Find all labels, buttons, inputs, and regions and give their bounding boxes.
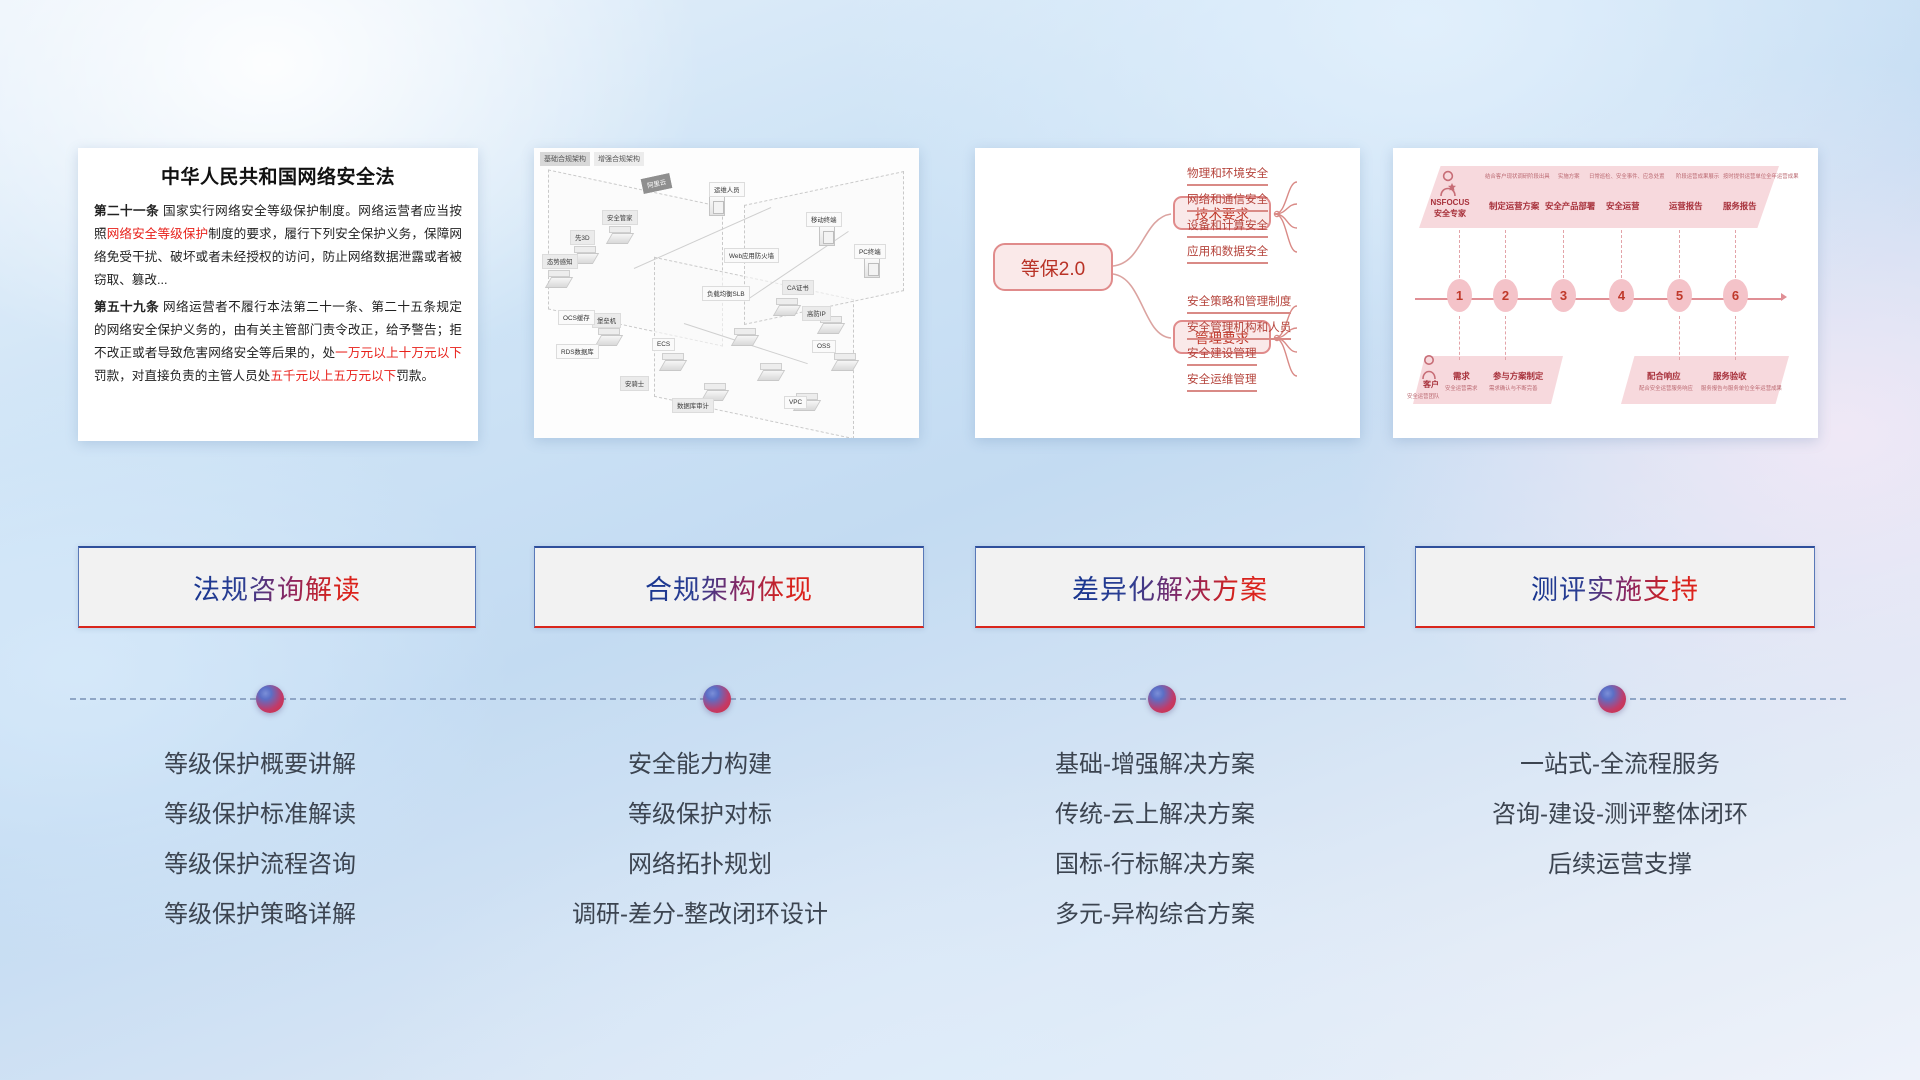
node-cube-icon xyxy=(776,298,798,316)
arch-node-slb: 负载均衡SLB xyxy=(702,286,750,301)
timeline-tick xyxy=(1621,230,1622,278)
timeline-marker-3[interactable] xyxy=(1148,685,1176,713)
mindmap-root-node: 等保2.0 xyxy=(993,243,1113,291)
timeline-step-dot-6: 6 xyxy=(1723,279,1748,312)
bullet-column-3: 基础-增强解决方案 传统-云上解决方案 国标-行标解决方案 多元-异构综合方案 xyxy=(955,740,1355,940)
list-item: 咨询-建设-测评整体闭环 xyxy=(1400,790,1840,840)
expert-person-icon xyxy=(1437,170,1459,198)
timeline-tick xyxy=(1505,316,1506,360)
server-icon xyxy=(864,258,880,278)
law-article-21: 第二十一条 国家实行网络安全等级保护制度。网络运营者应当按照网络安全等级保护制度… xyxy=(94,200,462,292)
list-item: 传统-云上解决方案 xyxy=(955,790,1355,840)
list-item: 等级保护对标 xyxy=(500,790,900,840)
timeline-tick xyxy=(1679,316,1680,360)
timeline-marker-1[interactable] xyxy=(256,685,284,713)
timeline-tick xyxy=(1459,316,1460,360)
list-item: 国标-行标解决方案 xyxy=(955,840,1355,890)
arch-node-ecs: ECS xyxy=(652,338,675,351)
arch-node-db-audit: 数据库审计 xyxy=(672,398,714,413)
mindmap-leaf-app-data: 应用和数据安全 xyxy=(1187,244,1268,264)
bullet-column-1: 等级保护概要讲解 等级保护标准解读 等级保护流程咨询 等级保护策略详解 xyxy=(60,740,460,940)
bottom-right-title-2: 服务验收 xyxy=(1713,370,1747,382)
mindmap-leaf-org-personnel: 安全管理机构和人员 xyxy=(1187,320,1291,340)
expert-label-line2: 安全专家 xyxy=(1425,209,1475,219)
step-2-title: 安全产品部署 xyxy=(1545,200,1595,212)
mindmap-leaf-device-compute: 设备和计算安全 xyxy=(1187,218,1268,238)
node-cube-icon xyxy=(760,363,782,381)
list-item: 等级保护概要讲解 xyxy=(60,740,460,790)
mindmap-leaf-physical-env: 物理和环境安全 xyxy=(1187,166,1268,186)
bottom-right-sub-1: 配合安全运营服务响应 xyxy=(1639,384,1693,392)
section-label-box-2[interactable]: 合规架构体现 xyxy=(534,546,924,628)
step-2-sub: 实施方案 xyxy=(1558,172,1580,180)
timeline-marker-2[interactable] xyxy=(703,685,731,713)
mindmap-leaf-policy-system: 安全策略和管理制度 xyxy=(1187,294,1291,314)
slide-root: 中华人民共和国网络安全法 第二十一条 国家实行网络安全等级保护制度。网络运营者应… xyxy=(0,0,1920,1080)
list-item: 调研-差分-整改闭环设计 xyxy=(500,890,900,940)
bottom-left-sub-1: 安全运营需求 xyxy=(1445,384,1477,392)
timeline-arrow-icon xyxy=(1781,293,1787,301)
bullet-column-2: 安全能力构建 等级保护对标 网络拓扑规划 调研-差分-整改闭环设计 xyxy=(500,740,900,940)
step-3-sub: 日常巡检、安全事件、应急处置 xyxy=(1589,172,1664,180)
timeline-marker-4[interactable] xyxy=(1598,685,1626,713)
step-3-title: 安全运营 xyxy=(1606,200,1640,212)
timeline-tick xyxy=(1563,230,1564,278)
list-item: 后续运营支撑 xyxy=(1400,840,1840,890)
progress-timeline-line xyxy=(70,698,1846,700)
section-label-text-1: 法规咨询解读 xyxy=(193,568,361,607)
server-icon xyxy=(819,226,835,246)
section-label-text-4: 测评实施支持 xyxy=(1531,568,1699,607)
law-text-body: 中华人民共和国网络安全法 第二十一条 国家实行网络安全等级保护制度。网络运营者应… xyxy=(78,148,478,398)
service-timeline-diagram: NSFOCUS 安全专家 结合客户现状调研阶段出具 制定运营方案 实施方案 安全… xyxy=(1393,148,1818,438)
mindmap-diagram: 等保2.0 技术要求 物理和环境安全 网络和通信安全 设备和计算安全 应用和数据… xyxy=(975,148,1360,438)
node-cube-icon xyxy=(598,328,620,346)
timeline-tick xyxy=(1735,230,1736,278)
bottom-left-title-1: 需求 xyxy=(1453,370,1470,382)
section-label-box-4[interactable]: 测评实施支持 xyxy=(1415,546,1815,628)
step-5-sub: 按时提供运营单位全年运营成果 xyxy=(1723,172,1798,180)
card-cybersecurity-law: 中华人民共和国网络安全法 第二十一条 国家实行网络安全等级保护制度。网络运营者应… xyxy=(78,148,478,441)
expert-label-line1: NSFOCUS xyxy=(1425,198,1475,208)
section-label-box-1[interactable]: 法规咨询解读 xyxy=(78,546,476,628)
customer-label-line2: 安全运营团队 xyxy=(1407,392,1439,400)
arch-node-oss: OSS xyxy=(812,340,836,353)
illustration-cards-row: 中华人民共和国网络安全法 第二十一条 国家实行网络安全等级保护制度。网络运营者应… xyxy=(0,148,1920,448)
timeline-tick xyxy=(1505,230,1506,278)
arch-node-security-agent: 安骑士 xyxy=(620,376,649,391)
bullet-columns-row: 等级保护概要讲解 等级保护标准解读 等级保护流程咨询 等级保护策略详解 安全能力… xyxy=(0,740,1920,1000)
bottom-right-title-1: 配合响应 xyxy=(1647,370,1681,382)
article-59-highlight-2: 五千元以上五万元以下 xyxy=(270,369,396,383)
article-59-part2: 罚款，对直接负责的主管人员处 xyxy=(94,369,270,383)
step-1-sub: 结合客户现状调研阶段出具 xyxy=(1485,172,1550,180)
list-item: 一站式-全流程服务 xyxy=(1400,740,1840,790)
tab-basic-architecture[interactable]: 基础合规架构 xyxy=(540,152,590,166)
list-item: 多元-异构综合方案 xyxy=(955,890,1355,940)
section-label-text-3: 差异化解决方案 xyxy=(1072,568,1268,607)
list-item: 等级保护策略详解 xyxy=(60,890,460,940)
arch-node-ops-staff: 运维人员 xyxy=(709,182,745,197)
bottom-left-sub-2: 需求确认与不断完善 xyxy=(1489,384,1538,392)
tab-enhanced-architecture[interactable]: 增强合规架构 xyxy=(594,152,644,166)
architecture-diagram: 基础合规架构 增强合规架构 xyxy=(534,148,919,438)
section-label-box-3[interactable]: 差异化解决方案 xyxy=(975,546,1365,628)
timeline-step-dot-1: 1 xyxy=(1447,279,1472,312)
timeline-step-dot-5: 5 xyxy=(1667,279,1692,312)
arch-node-vpc: VPC xyxy=(784,396,807,409)
server-icon xyxy=(709,196,725,216)
arch-node-bastion-host: 堡垒机 xyxy=(592,313,621,328)
arch-node-rds: RDS数据库 xyxy=(556,344,599,359)
arch-node-pc-terminal: PC终端 xyxy=(854,244,886,259)
step-4-sub: 阶段运营成果展示 xyxy=(1676,172,1719,180)
card-cloud-architecture: 基础合规架构 增强合规架构 xyxy=(534,148,919,438)
step-5-title: 服务报告 xyxy=(1723,200,1757,212)
node-cube-icon xyxy=(548,270,570,288)
arch-node-anti-ddos-ip: 高防IP xyxy=(802,306,831,321)
law-title: 中华人民共和国网络安全法 xyxy=(94,162,462,189)
article-59-label: 第五十九条 xyxy=(94,300,159,314)
arch-node-security-butler: 安全管家 xyxy=(602,210,638,225)
timeline-step-dot-2: 2 xyxy=(1493,279,1518,312)
law-article-59: 第五十九条 网络运营者不履行本法第二十一条、第二十五条规定的网络安全保护义务的，… xyxy=(94,296,462,388)
article-59-part3: 罚款。 xyxy=(396,369,434,383)
node-cube-icon xyxy=(609,226,631,244)
list-item: 安全能力构建 xyxy=(500,740,900,790)
section-label-row: 法规咨询解读 合规架构体现 差异化解决方案 测评实施支持 xyxy=(0,546,1920,628)
node-cube-icon xyxy=(734,328,756,346)
node-cube-icon xyxy=(662,353,684,371)
section-label-text-2: 合规架构体现 xyxy=(645,568,813,607)
arch-node-3d: 先3D xyxy=(570,230,595,245)
article-21-highlight: 网络安全等级保护 xyxy=(107,227,209,241)
mindmap-leaf-ops-mgmt: 安全运维管理 xyxy=(1187,372,1257,392)
arch-node-ca-cert: CA证书 xyxy=(782,280,814,295)
timeline-tick xyxy=(1459,230,1460,278)
arch-node-ocs-cache: OCS缓存 xyxy=(558,310,595,325)
step-4-title: 运营报告 xyxy=(1669,200,1703,212)
arch-node-waf: Web应用防火墙 xyxy=(724,248,779,263)
node-cube-icon xyxy=(834,353,856,371)
architecture-tabs: 基础合规架构 增强合规架构 xyxy=(540,152,644,166)
list-item: 基础-增强解决方案 xyxy=(955,740,1355,790)
timeline-step-dot-3: 3 xyxy=(1551,279,1576,312)
arch-node-situation-awareness: 态势感知 xyxy=(542,254,578,269)
timeline-tick xyxy=(1679,230,1680,278)
list-item: 网络拓扑规划 xyxy=(500,840,900,890)
card-service-timeline: NSFOCUS 安全专家 结合客户现状调研阶段出具 制定运营方案 实施方案 安全… xyxy=(1393,148,1818,438)
customer-person-icon xyxy=(1419,354,1439,380)
timeline-tick xyxy=(1735,316,1736,360)
list-item: 等级保护流程咨询 xyxy=(60,840,460,890)
card-mindmap-dengbao: 等保2.0 技术要求 物理和环境安全 网络和通信安全 设备和计算安全 应用和数据… xyxy=(975,148,1360,438)
step-1-title: 制定运营方案 xyxy=(1489,200,1539,212)
mindmap-leaf-network-comm: 网络和通信安全 xyxy=(1187,192,1268,212)
mindmap-leaf-construction-mgmt: 安全建设管理 xyxy=(1187,346,1257,366)
mindmap-connectors xyxy=(975,148,1360,438)
list-item: 等级保护标准解读 xyxy=(60,790,460,840)
timeline-step-dot-4: 4 xyxy=(1609,279,1634,312)
article-21-label: 第二十一条 xyxy=(94,204,159,218)
article-59-highlight-1: 一万元以上十万元以下 xyxy=(335,346,462,360)
bottom-left-title-2: 参与方案制定 xyxy=(1493,370,1543,382)
bullet-column-4: 一站式-全流程服务 咨询-建设-测评整体闭环 后续运营支撑 xyxy=(1400,740,1840,890)
bottom-right-sub-2: 服务报告与服务单位全年运营成果 xyxy=(1701,384,1782,392)
arch-node-cloud: 阿里云 xyxy=(641,173,673,194)
arch-node-mobile-terminal: 移动终端 xyxy=(806,212,842,227)
